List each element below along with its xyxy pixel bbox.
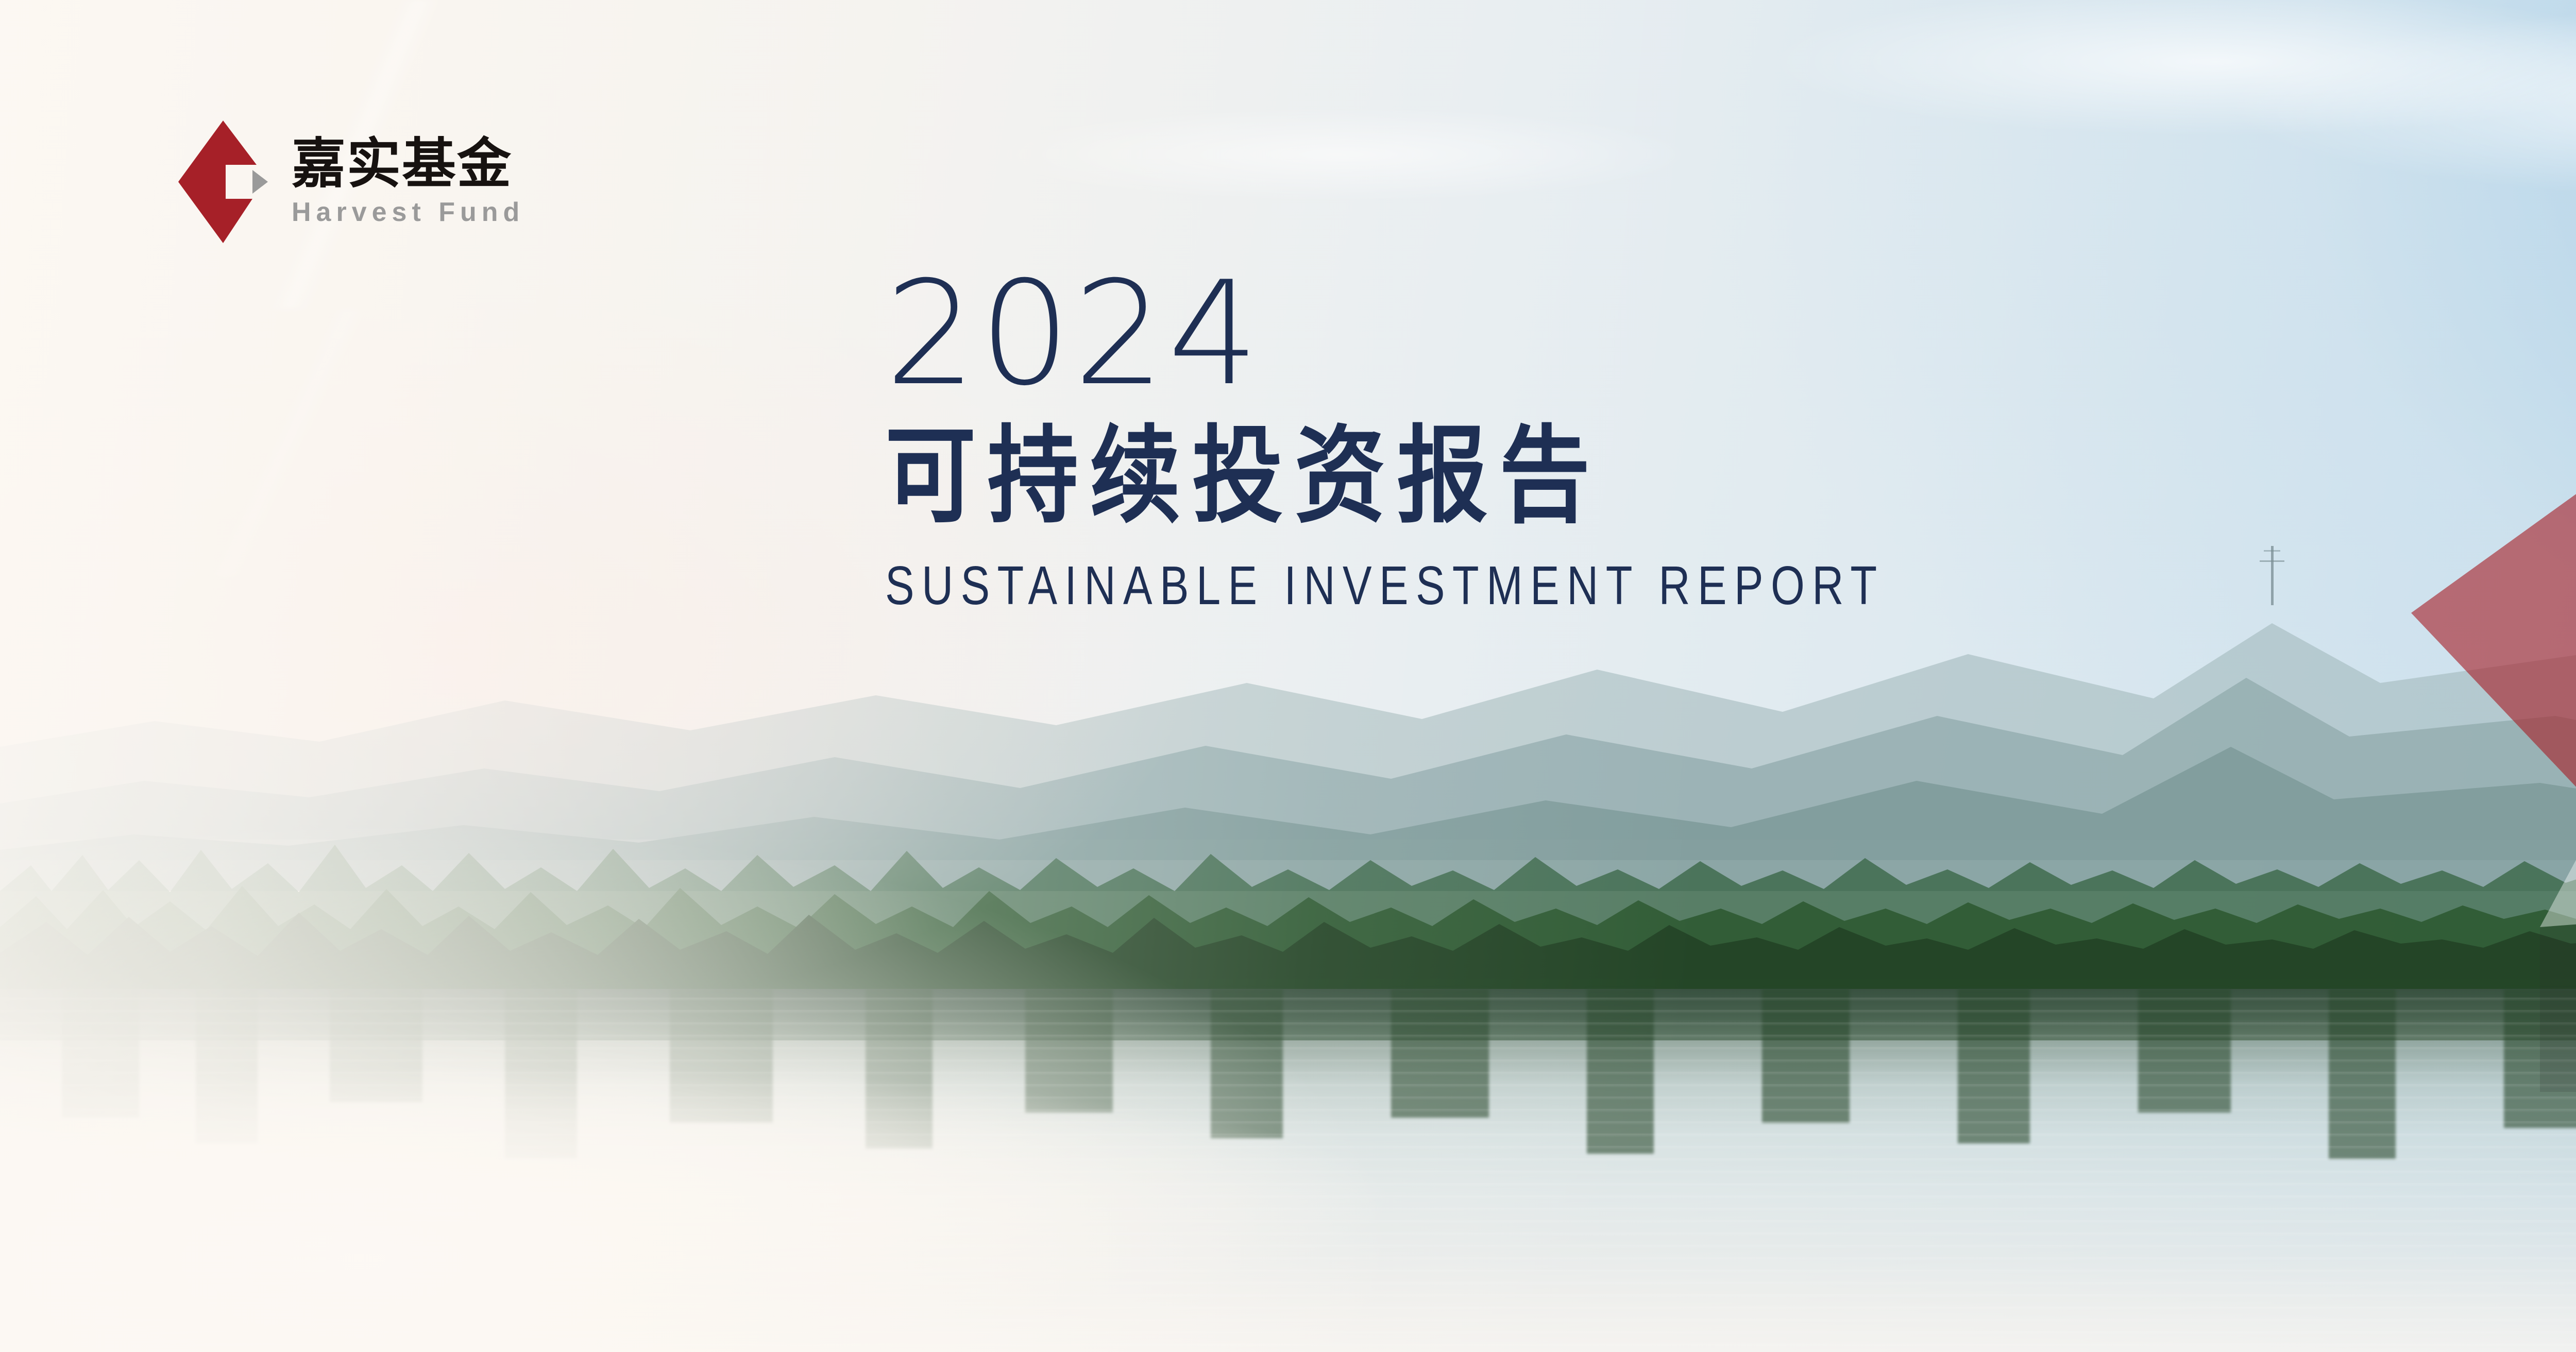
report-title-en: SUSTAINABLE INVESTMENT REPORT [885,558,1885,613]
harvest-diamond-logo-icon [174,117,272,246]
contrail-streak-2 [0,309,618,577]
hero-text-block: 2024 可持续投资报告 SUSTAINABLE INVESTMENT REPO… [885,264,2134,613]
report-cover: 嘉实基金 Harvest Fund 2024 可持续投资报告 SUSTAINAB… [0,0,2576,1352]
report-year: 2024 [885,264,2134,404]
water-sheen-left [0,1046,2061,1352]
brand-name-cn: 嘉实基金 [292,136,524,192]
report-title-cn: 可持续投资报告 [885,422,1959,530]
mountain-antenna-tower [2271,546,2274,605]
brand-logo[interactable]: 嘉实基金 Harvest Fund [174,117,524,246]
brand-name-en: Harvest Fund [292,197,524,228]
brand-wordmark: 嘉实基金 Harvest Fund [292,136,524,227]
